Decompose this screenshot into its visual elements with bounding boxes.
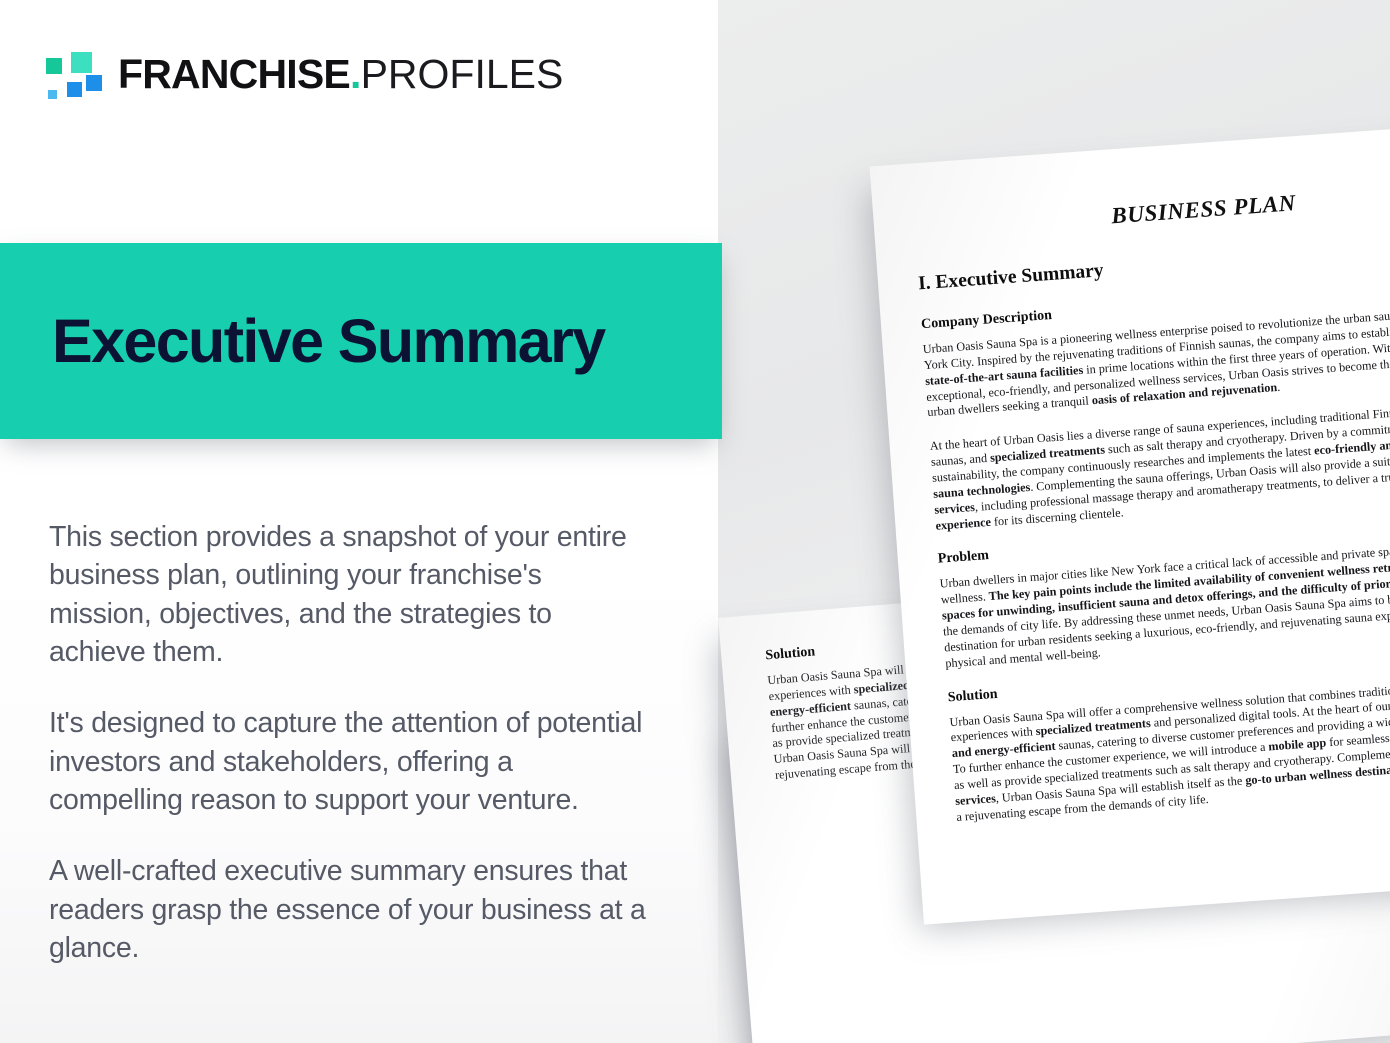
- body-paragraph-2: It's designed to capture the attention o…: [49, 704, 649, 819]
- logo-square-blue-center-icon: [65, 80, 84, 99]
- body-paragraph-3: A well-crafted executive summary ensures…: [49, 852, 649, 967]
- body-paragraph-1: This section provides a snapshot of your…: [49, 518, 649, 671]
- logo-word-dot: .: [350, 51, 361, 97]
- logo-square-teal-icon: [44, 56, 64, 76]
- title-band: Executive Summary: [0, 243, 722, 439]
- slide-canvas: FRANCHISE.PROFILES Executive Summary Thi…: [0, 0, 1390, 1043]
- logo-wordmark: FRANCHISE.PROFILES: [118, 54, 563, 95]
- document-paragraph-company-2: At the heart of Urban Oasis lies a diver…: [929, 398, 1390, 534]
- logo-square-lightblue-icon: [46, 88, 59, 101]
- document-title: BUSINESS PLAN: [913, 176, 1390, 243]
- body-copy: This section provides a snapshot of your…: [49, 518, 649, 967]
- document-section-title: I. Executive Summary: [917, 232, 1390, 295]
- document-sheet-front: BUSINESS PLAN I. Executive Summary Compa…: [870, 119, 1390, 924]
- logo-square-mint-icon: [69, 50, 94, 75]
- brand-logo[interactable]: FRANCHISE.PROFILES: [44, 44, 563, 104]
- logo-square-blue-right-icon: [84, 73, 104, 93]
- logo-mark-squares-icon: [44, 50, 102, 98]
- logo-word-profiles: PROFILES: [361, 51, 564, 97]
- page-title: Executive Summary: [52, 310, 605, 372]
- logo-word-franchise: FRANCHISE: [118, 51, 350, 97]
- business-plan-document-stack: go-to urban wellness destination for ind…: [700, 120, 1390, 1043]
